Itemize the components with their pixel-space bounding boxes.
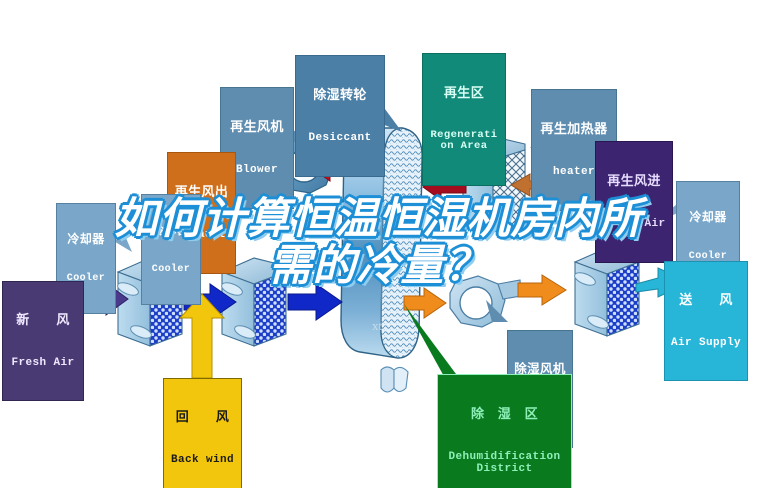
- label-dehumid-district[interactable]: 除 湿 区 Dehumidification District: [437, 374, 572, 488]
- label-regen-area[interactable]: 再生区 Regenerati on Area: [422, 53, 506, 186]
- label-cn: 除 湿 区: [440, 407, 569, 422]
- label-cn: 再生风进: [598, 174, 670, 189]
- label-cn: 回 风: [166, 410, 239, 425]
- label-en: Regenerati on Area: [425, 130, 503, 154]
- label-en: Desiccant: [298, 132, 382, 144]
- label-cn: 冷却器: [679, 211, 737, 224]
- arrow-coil2-out: [288, 284, 342, 320]
- label-cn: 再生区: [425, 86, 503, 101]
- label-en: Fresh Air: [5, 357, 81, 369]
- label-cn: 除湿转轮: [298, 88, 382, 103]
- label-regen-fresh-air[interactable]: 再生风进 Fresh Air: [595, 141, 673, 263]
- label-back-wind[interactable]: 回 风 Back wind: [163, 378, 242, 488]
- dehumid-fan-housing: [450, 276, 521, 327]
- label-cn: 送 风: [667, 293, 745, 308]
- diagram-canvas: xt: [0, 0, 757, 488]
- label-cooler-left-2[interactable]: 冷却器 Cooler: [141, 194, 201, 305]
- label-en: Dehumidification District: [440, 451, 569, 476]
- arrow-fan-to-coil: [518, 275, 566, 305]
- label-desiccant-rotor[interactable]: 除湿转轮 Desiccant: [295, 55, 385, 177]
- label-en: Back wind: [166, 454, 239, 466]
- label-en: Fresh Air: [598, 218, 670, 230]
- watermark: xt: [372, 318, 383, 333]
- label-en: Cooler: [144, 264, 198, 275]
- label-cn: 冷却器: [59, 233, 113, 246]
- label-en: Air Supply: [667, 337, 745, 349]
- label-cn: 新 风: [5, 313, 81, 328]
- label-cn: 再生风机: [223, 120, 291, 135]
- label-fresh-air-inlet[interactable]: 新 风 Fresh Air: [2, 281, 84, 401]
- label-cn: 冷却器: [144, 224, 198, 237]
- label-air-supply[interactable]: 送 风 Air Supply: [664, 261, 748, 381]
- label-cn: 再生加热器: [534, 122, 614, 137]
